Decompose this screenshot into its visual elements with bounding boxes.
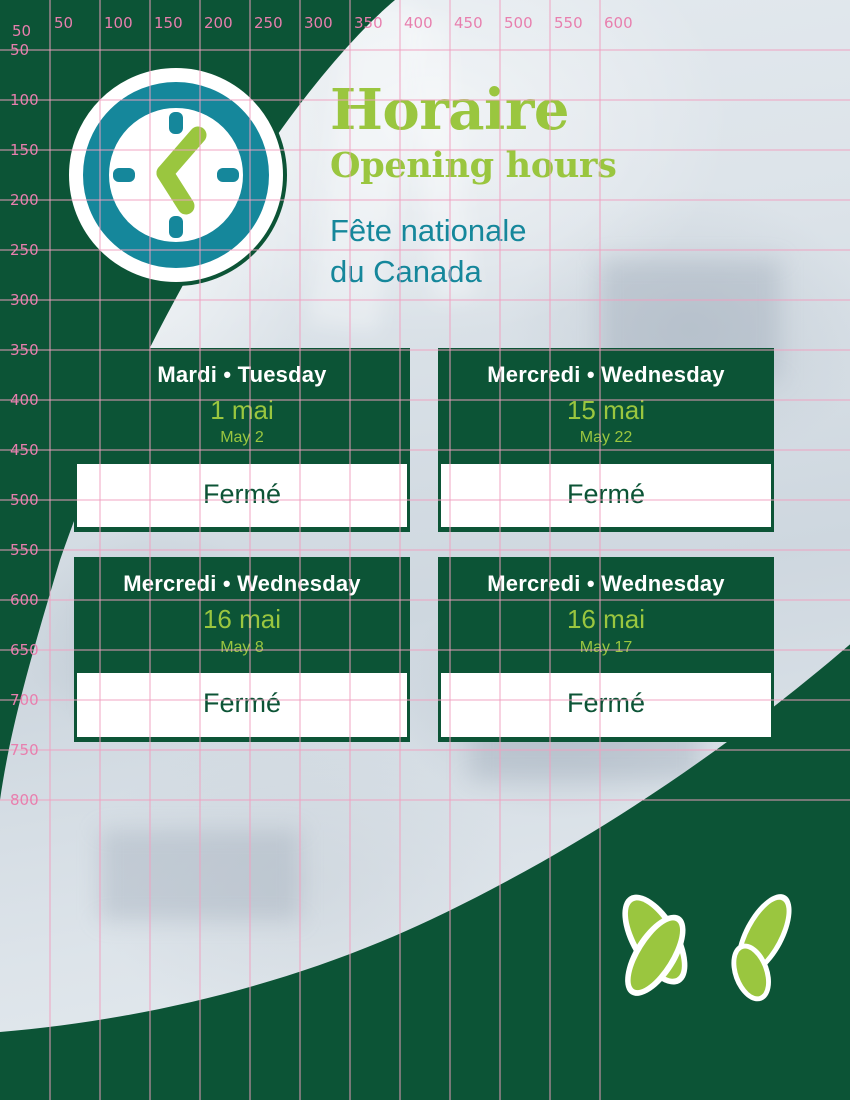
poster-canvas: Horaire Opening hours Fête nationale du … (0, 0, 850, 1100)
clock-icon (65, 64, 287, 286)
schedule-card[interactable]: Mercredi • Wednesday 16 mai May 17 Fermé (438, 557, 774, 741)
card-day-label: Mercredi • Wednesday (447, 572, 765, 596)
card-date-fr: 16 mai (83, 604, 401, 635)
schedule-card-grid: Mardi • Tuesday 1 mai May 2 Fermé Mercre… (74, 348, 774, 742)
page-title-fr: Horaire (330, 82, 770, 138)
schedule-card[interactable]: Mercredi • Wednesday 16 mai May 8 Fermé (74, 557, 410, 741)
card-status-box: Fermé (441, 462, 771, 530)
butterfly-icon (620, 855, 800, 1045)
card-status-box: Fermé (441, 671, 771, 739)
schedule-card[interactable]: Mardi • Tuesday 1 mai May 2 Fermé (74, 348, 410, 532)
page-subtitle: Fête nationale du Canada (330, 210, 770, 292)
card-header: Mardi • Tuesday 1 mai May 2 (77, 351, 407, 462)
page-title-en: Opening hours (330, 144, 770, 188)
card-header: Mercredi • Wednesday 16 mai May 8 (77, 560, 407, 671)
green-bottom-band (0, 1078, 850, 1100)
card-day-label: Mardi • Tuesday (83, 363, 401, 387)
card-status-box: Fermé (77, 671, 407, 739)
card-date-en: May 2 (83, 428, 401, 447)
header-text-block: Horaire Opening hours Fête nationale du … (330, 82, 770, 292)
card-status-box: Fermé (77, 462, 407, 530)
card-header: Mercredi • Wednesday 16 mai May 17 (441, 560, 771, 671)
card-date-fr: 1 mai (83, 395, 401, 426)
status-badge: Fermé (83, 480, 401, 510)
schedule-card[interactable]: Mercredi • Wednesday 15 mai May 22 Fermé (438, 348, 774, 532)
card-day-label: Mercredi • Wednesday (447, 363, 765, 387)
status-badge: Fermé (447, 689, 765, 719)
card-header: Mercredi • Wednesday 15 mai May 22 (441, 351, 771, 462)
card-day-label: Mercredi • Wednesday (83, 572, 401, 596)
status-badge: Fermé (447, 480, 765, 510)
card-date-en: May 17 (447, 638, 765, 657)
card-date-fr: 15 mai (447, 395, 765, 426)
status-badge: Fermé (83, 689, 401, 719)
card-date-en: May 22 (447, 428, 765, 447)
card-date-en: May 8 (83, 638, 401, 657)
card-date-fr: 16 mai (447, 604, 765, 635)
